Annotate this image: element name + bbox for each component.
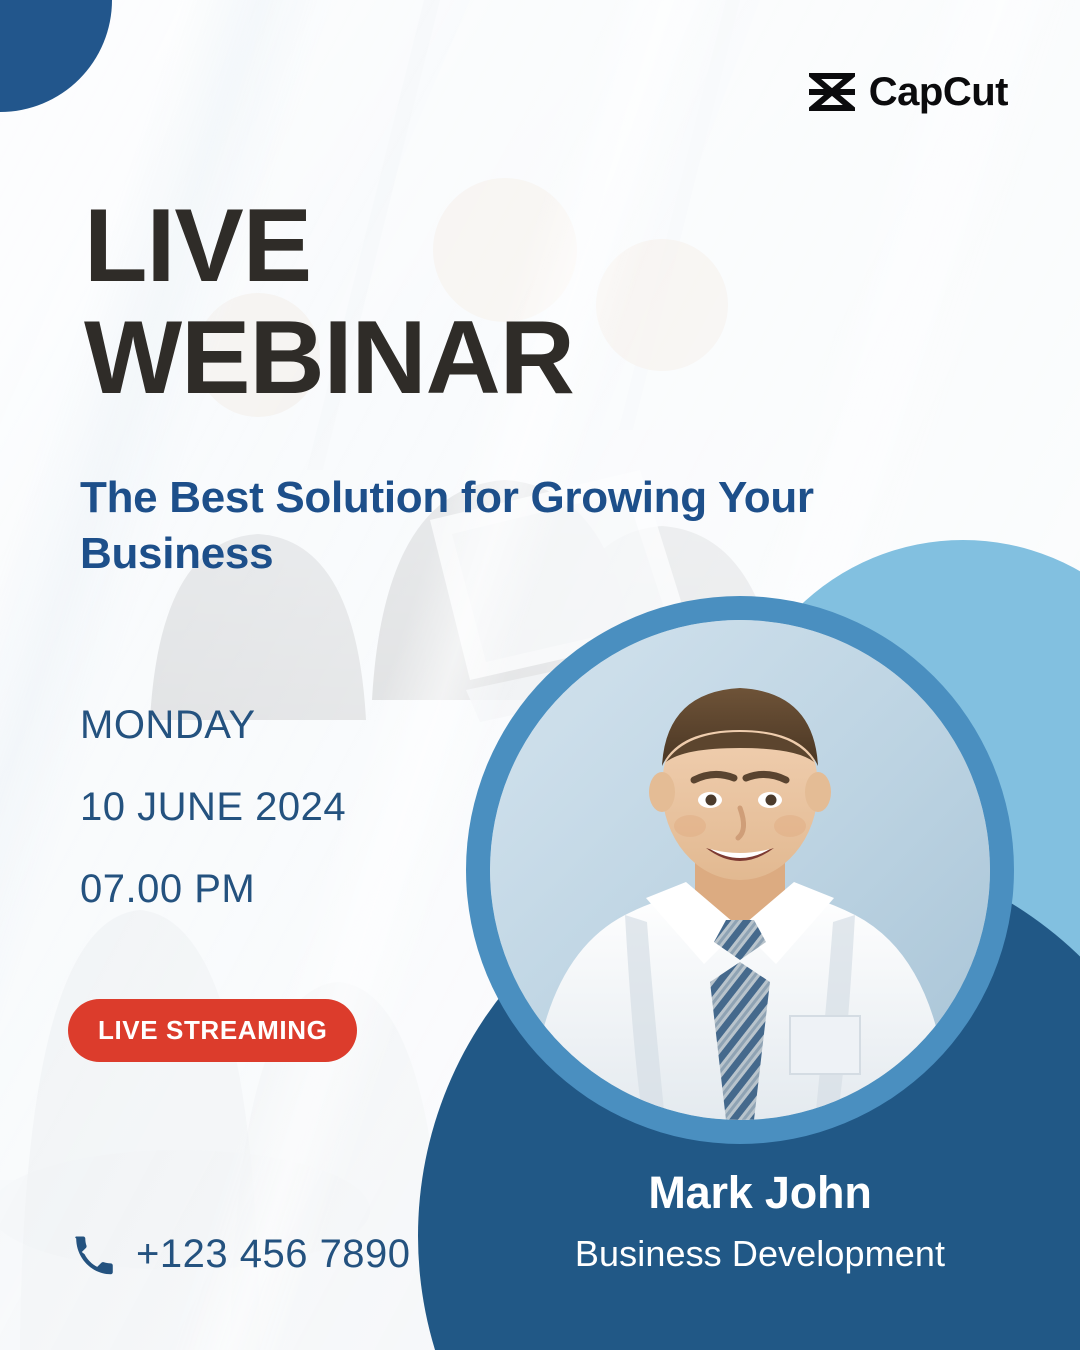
- event-datetime: MONDAY 10 JUNE 2024 07.00 PM: [80, 705, 346, 909]
- webinar-poster: CapCut LIVE WEBINAR The Best Solution fo…: [0, 0, 1080, 1350]
- speaker-info: Mark John Business Development: [500, 1168, 1020, 1273]
- event-day: MONDAY: [80, 705, 346, 745]
- speaker-role: Business Development: [500, 1234, 1020, 1274]
- capcut-mark-icon: [809, 73, 855, 111]
- speaker-name: Mark John: [500, 1168, 1020, 1218]
- headline-line-1: LIVE: [84, 188, 311, 304]
- event-date: 10 JUNE 2024: [80, 787, 346, 827]
- contact-phone[interactable]: +123 456 7890: [72, 1232, 411, 1277]
- page-title: LIVE WEBINAR: [84, 190, 574, 415]
- phone-number: +123 456 7890: [136, 1232, 411, 1277]
- subtitle-line-1: The Best Solution for Growing: [80, 473, 707, 522]
- phone-handset-icon: [72, 1234, 114, 1276]
- avatar: [490, 620, 990, 1120]
- live-streaming-badge[interactable]: LIVE STREAMING: [68, 999, 357, 1062]
- capcut-logo-text: CapCut: [869, 72, 1008, 112]
- headline-line-2: WEBINAR: [84, 302, 574, 414]
- capcut-logo: CapCut: [809, 72, 1008, 112]
- subtitle: The Best Solution for Growing Your Busin…: [80, 470, 860, 583]
- event-time: 07.00 PM: [80, 869, 346, 909]
